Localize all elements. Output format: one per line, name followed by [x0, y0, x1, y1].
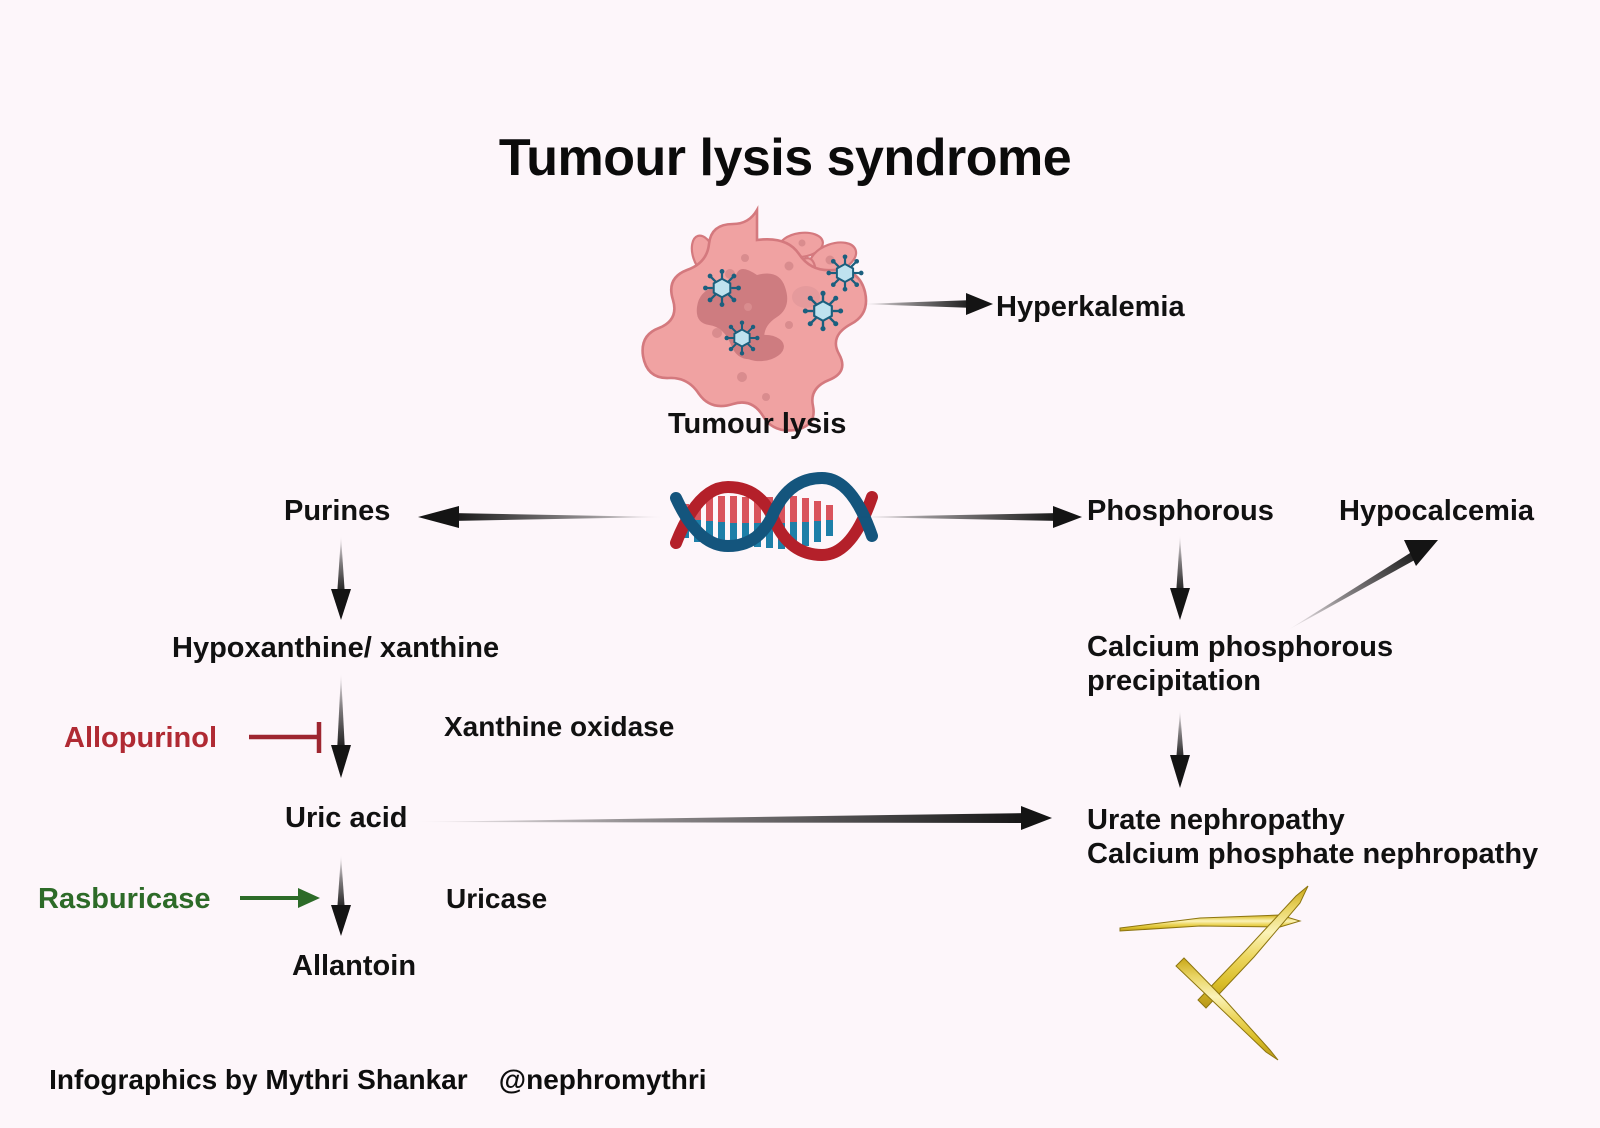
arrow-calcium-precipitation-to-hypocalcemia: [1288, 540, 1438, 630]
arrow-purines-to-hypoxanthine: [331, 536, 351, 620]
node-hypocalcemia: Hypocalcemia: [1339, 494, 1534, 528]
arrow-lysis-to-hyperkalemia: [862, 293, 993, 315]
arrow-dna-to-purines: [418, 506, 665, 528]
crystal-needle-2: [1198, 886, 1308, 1008]
label-allopurinol: Allopurinol: [64, 722, 217, 755]
footer-credit: Infographics by Mythri Shankar @nephromy…: [18, 1032, 707, 1128]
node-purines: Purines: [284, 494, 390, 528]
arrow-allopurinol-inhibits-xanthine-oxidase: [249, 722, 320, 753]
crystal-needle-1: [1120, 915, 1300, 931]
uric-acid-crystals-illustration: [1120, 886, 1308, 1060]
node-hypoxanthine-xanthine: Hypoxanthine/ xanthine: [172, 631, 499, 665]
arrow-hypoxanthine-to-uric-acid: [331, 673, 351, 778]
arrow-uric-acid-to-nephropathy: [412, 806, 1052, 830]
infographic-canvas: Tumour lysis syndrome: [0, 0, 1600, 1120]
node-nephropathy: Urate nephropathy Calcium phosphate neph…: [1087, 803, 1538, 871]
arrow-calcium-precipitation-to-nephropathy: [1170, 710, 1190, 788]
arrow-uric-acid-to-allantoin: [331, 855, 351, 936]
footer-author: Infographics by Mythri Shankar: [49, 1064, 468, 1095]
lysing-tumour-cell-illustration: [643, 210, 866, 430]
cell-body: [643, 210, 866, 430]
arrow-phosphorous-to-calcium-precipitation: [1170, 535, 1190, 620]
page-title: Tumour lysis syndrome: [0, 128, 1570, 188]
node-hyperkalemia: Hyperkalemia: [996, 290, 1185, 324]
footer-spacer: [468, 1064, 499, 1095]
arrow-rasburicase-activates-uricase: [240, 888, 320, 908]
dna-double-helix-illustration: [676, 478, 872, 555]
node-uric-acid: Uric acid: [285, 801, 408, 835]
node-phosphorous: Phosphorous: [1087, 494, 1274, 528]
node-tumour-lysis: Tumour lysis: [668, 408, 846, 441]
potassium-particles: [703, 254, 863, 355]
label-uricase: Uricase: [446, 883, 547, 915]
nucleus-fragment-2: [739, 333, 785, 363]
crystal-needle-3: [1176, 958, 1278, 1060]
footer-handle: @nephromythri: [499, 1064, 707, 1095]
node-calcium-phosphorous-precipitation: Calcium phosphorous precipitation: [1087, 630, 1393, 698]
arrow-dna-to-phosphorous: [855, 506, 1082, 528]
dna-strand-red: [676, 487, 872, 555]
label-rasburicase: Rasburicase: [38, 883, 211, 916]
nucleus-fragment-3: [792, 286, 820, 308]
label-xanthine-oxidase: Xanthine oxidase: [444, 711, 674, 743]
node-allantoin: Allantoin: [292, 949, 416, 983]
dna-strand-blue: [676, 478, 872, 546]
nucleus-fragment-1: [697, 269, 787, 359]
